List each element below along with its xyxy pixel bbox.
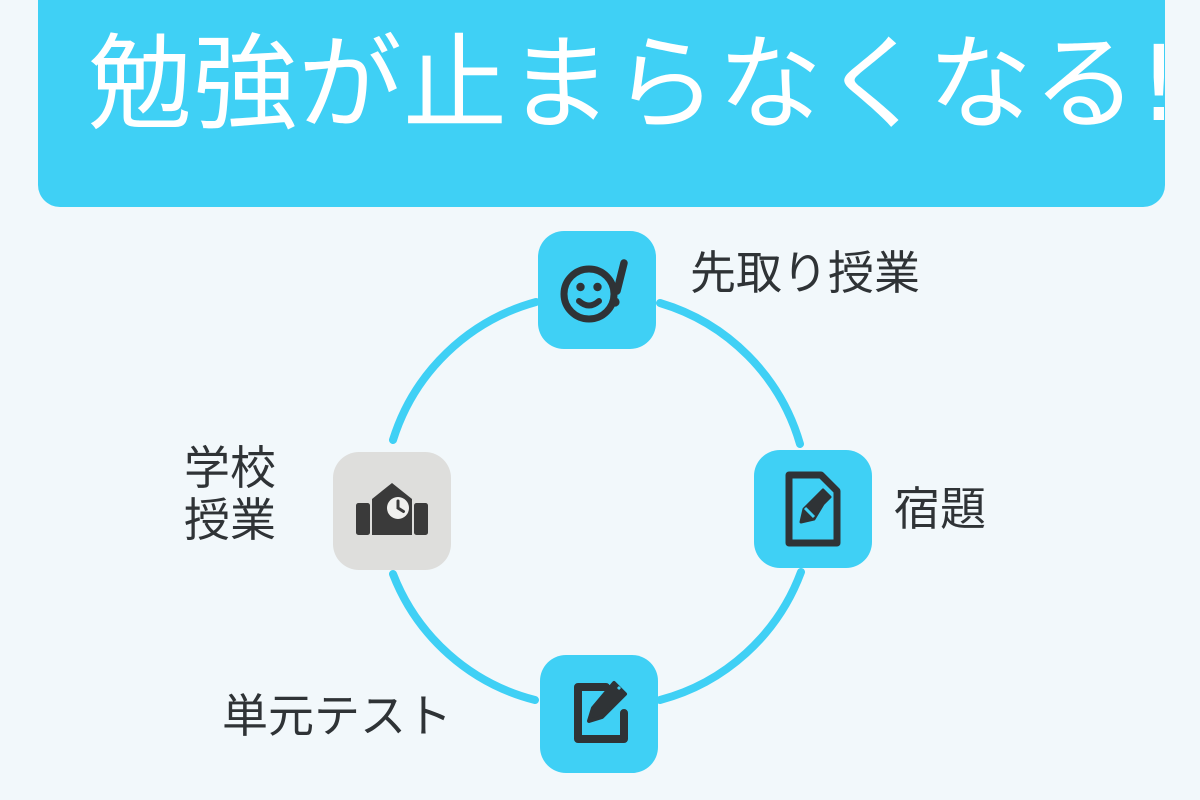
cycle-node-gakko-jugyou[interactable] <box>333 452 451 570</box>
cycle-node-tangen-test[interactable] <box>540 655 658 773</box>
study-cycle-diagram: 先取り授業 宿題 単元テスト <box>0 0 1200 800</box>
cycle-node-label-gakko-line2: 授業 <box>184 494 316 546</box>
arc-bottom-to-left <box>393 574 535 700</box>
cycle-node-label-gakko-line1: 学校 <box>184 442 316 494</box>
cycle-node-label-shukudai: 宿題 <box>894 483 986 535</box>
school-clock-icon <box>354 481 430 541</box>
arc-left-to-top <box>393 302 536 440</box>
arc-top-to-right <box>660 303 800 444</box>
document-pencil-icon <box>779 470 847 548</box>
cycle-node-label-gakko-jugyou: 学校 授業 <box>184 442 316 546</box>
poster-canvas: 勉強が止まらなくなる! <box>0 0 1200 800</box>
cycle-node-shukudai[interactable] <box>754 450 872 568</box>
cycle-node-label-senkudori-jugyou: 先取り授業 <box>690 247 920 299</box>
cycle-node-senkudori-jugyou[interactable] <box>538 231 656 349</box>
cycle-node-label-tangen-test: 単元テスト <box>222 690 452 742</box>
arc-right-to-bottom <box>660 572 801 700</box>
smiley-exclamation-icon <box>558 253 636 327</box>
compose-edit-icon <box>562 677 636 751</box>
